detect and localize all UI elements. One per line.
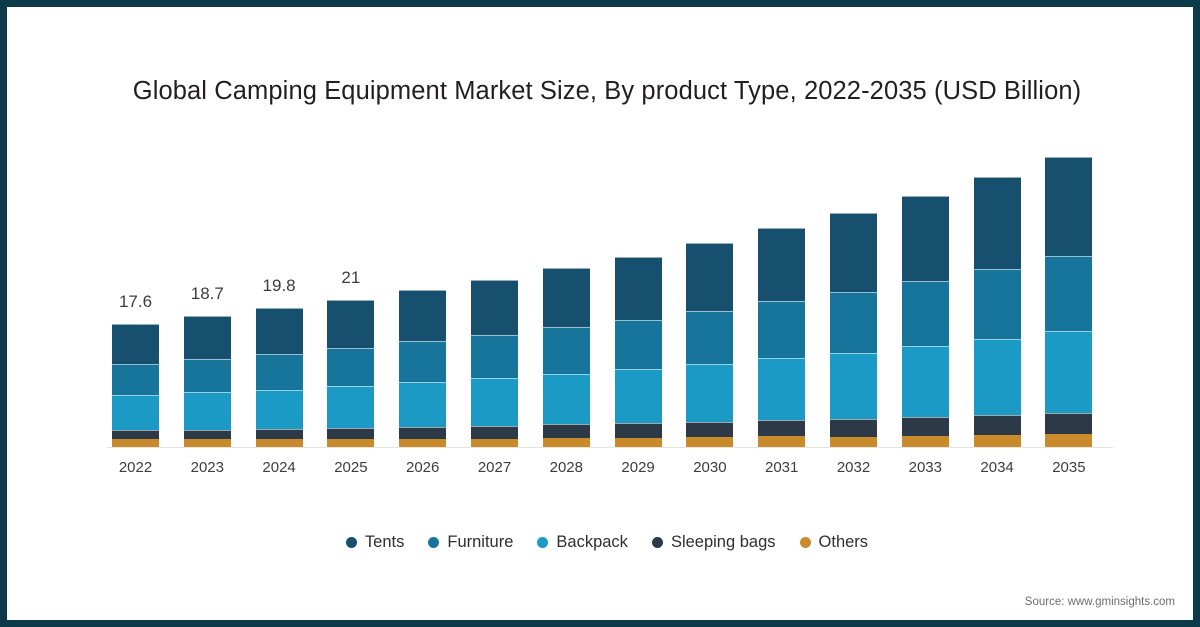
x-axis-label-2023: 2023: [184, 459, 231, 476]
bar-2030[interactable]: [686, 243, 733, 447]
bar-segment-others-2032[interactable]: [830, 437, 877, 448]
bar-2023[interactable]: [184, 316, 231, 447]
bar-segment-backpack-2027[interactable]: [471, 378, 518, 426]
bar-segment-sleeping-bags-2033[interactable]: [902, 417, 949, 436]
bar-segment-others-2022[interactable]: [112, 439, 159, 447]
bar-segment-others-2027[interactable]: [471, 439, 518, 447]
bar-segment-furniture-2024[interactable]: [256, 354, 303, 390]
bar-segment-tents-2031[interactable]: [758, 228, 805, 302]
bar-segment-backpack-2030[interactable]: [686, 364, 733, 422]
bar-segment-others-2033[interactable]: [902, 436, 949, 447]
bar-segment-furniture-2029[interactable]: [615, 320, 662, 369]
bar-segment-furniture-2035[interactable]: [1045, 256, 1092, 331]
bar-segment-furniture-2028[interactable]: [543, 327, 590, 373]
legend-marker-circle-icon: [800, 537, 811, 548]
legend-marker-circle-icon: [428, 537, 439, 548]
x-axis-label-2029: 2029: [615, 459, 662, 476]
bar-segment-backpack-2031[interactable]: [758, 358, 805, 420]
bar-segment-others-2024[interactable]: [256, 439, 303, 447]
bar-segment-sleeping-bags-2035[interactable]: [1045, 413, 1092, 435]
x-axis-label-2032: 2032: [830, 459, 877, 476]
bar-segment-backpack-2032[interactable]: [830, 353, 877, 420]
bar-2027[interactable]: [471, 280, 518, 447]
bar-2029[interactable]: [615, 257, 662, 447]
bar-segment-sleeping-bags-2025[interactable]: [327, 428, 374, 439]
bar-segment-tents-2027[interactable]: [471, 280, 518, 335]
source-attribution: Source: www.gminsights.com: [1025, 596, 1175, 608]
bar-segment-others-2034[interactable]: [974, 435, 1021, 447]
bar-segment-tents-2035[interactable]: [1045, 157, 1092, 256]
bar-segment-sleeping-bags-2026[interactable]: [399, 427, 446, 439]
legend-item-tents[interactable]: Tents: [346, 533, 404, 552]
bar-segment-furniture-2031[interactable]: [758, 301, 805, 358]
x-axis-label-2022: 2022: [112, 459, 159, 476]
legend-label: Sleeping bags: [671, 533, 776, 552]
data-label-2022: 17.6: [119, 292, 152, 312]
bar-segment-tents-2034[interactable]: [974, 177, 1021, 269]
bar-segment-furniture-2027[interactable]: [471, 335, 518, 378]
bar-segment-furniture-2030[interactable]: [686, 311, 733, 364]
legend-item-furniture[interactable]: Furniture: [428, 533, 513, 552]
legend-item-sleeping-bags[interactable]: Sleeping bags: [652, 533, 776, 552]
bar-segment-others-2031[interactable]: [758, 436, 805, 447]
bar-segment-backpack-2022[interactable]: [112, 395, 159, 430]
bar-segment-backpack-2024[interactable]: [256, 390, 303, 429]
bar-segment-sleeping-bags-2028[interactable]: [543, 424, 590, 438]
bar-segment-tents-2033[interactable]: [902, 196, 949, 281]
data-label-2023: 18.7: [191, 284, 224, 304]
bar-segment-sleeping-bags-2031[interactable]: [758, 420, 805, 437]
bar-segment-furniture-2026[interactable]: [399, 341, 446, 382]
bar-segment-backpack-2029[interactable]: [615, 369, 662, 423]
bar-segment-backpack-2028[interactable]: [543, 374, 590, 424]
chart-legend: TentsFurnitureBackpackSleeping bagsOther…: [7, 533, 1200, 552]
legend-marker-circle-icon: [537, 537, 548, 548]
bar-segment-others-2029[interactable]: [615, 438, 662, 447]
bar-2033[interactable]: [902, 196, 949, 447]
bar-segment-sleeping-bags-2022[interactable]: [112, 430, 159, 439]
bar-2034[interactable]: [974, 177, 1021, 447]
bar-2022[interactable]: [112, 324, 159, 447]
bar-segment-sleeping-bags-2023[interactable]: [184, 430, 231, 440]
chart-frame: Global Camping Equipment Market Size, By…: [0, 0, 1200, 627]
bar-segment-backpack-2033[interactable]: [902, 346, 949, 417]
bar-2025[interactable]: [327, 300, 374, 447]
x-axis-label-2033: 2033: [902, 459, 949, 476]
bar-segment-others-2023[interactable]: [184, 439, 231, 447]
bar-segment-tents-2026[interactable]: [399, 290, 446, 342]
bar-2028[interactable]: [543, 268, 590, 447]
legend-marker-circle-icon: [346, 537, 357, 548]
x-axis-label-2030: 2030: [686, 459, 733, 476]
data-label-2025: 21: [341, 268, 360, 288]
bar-segment-tents-2023[interactable]: [184, 316, 231, 359]
bar-segment-others-2030[interactable]: [686, 437, 733, 447]
bar-segment-furniture-2032[interactable]: [830, 292, 877, 353]
x-axis-label-2024: 2024: [256, 459, 303, 476]
bar-segment-furniture-2025[interactable]: [327, 348, 374, 386]
chart-title: Global Camping Equipment Market Size, By…: [7, 77, 1200, 106]
bar-segment-sleeping-bags-2024[interactable]: [256, 429, 303, 440]
x-axis-label-2026: 2026: [399, 459, 446, 476]
bar-segment-sleeping-bags-2032[interactable]: [830, 419, 877, 437]
legend-label: Backpack: [556, 533, 628, 552]
bar-segment-furniture-2022[interactable]: [112, 364, 159, 396]
bar-segment-backpack-2035[interactable]: [1045, 331, 1092, 413]
bar-2031[interactable]: [758, 228, 805, 447]
legend-label: Furniture: [447, 533, 513, 552]
bar-segment-sleeping-bags-2029[interactable]: [615, 423, 662, 438]
legend-label: Tents: [365, 533, 404, 552]
bar-segment-tents-2024[interactable]: [256, 308, 303, 354]
bar-segment-furniture-2033[interactable]: [902, 281, 949, 346]
x-axis-label-2034: 2034: [974, 459, 1021, 476]
bar-segment-others-2025[interactable]: [327, 439, 374, 447]
bar-segment-tents-2030[interactable]: [686, 243, 733, 312]
bar-segment-backpack-2025[interactable]: [327, 386, 374, 428]
legend-marker-circle-icon: [652, 537, 663, 548]
bar-segment-sleeping-bags-2027[interactable]: [471, 426, 518, 439]
x-axis-label-2027: 2027: [471, 459, 518, 476]
bar-segment-backpack-2023[interactable]: [184, 392, 231, 429]
bar-segment-tents-2025[interactable]: [327, 300, 374, 348]
bar-segment-sleeping-bags-2030[interactable]: [686, 422, 733, 437]
bar-segment-tents-2029[interactable]: [615, 257, 662, 321]
bar-segment-others-2028[interactable]: [543, 438, 590, 447]
x-axis-label-2025: 2025: [327, 459, 374, 476]
bar-segment-furniture-2023[interactable]: [184, 359, 231, 393]
bar-segment-tents-2032[interactable]: [830, 213, 877, 292]
bar-segment-tents-2028[interactable]: [543, 268, 590, 328]
bar-segment-furniture-2034[interactable]: [974, 269, 1021, 339]
bar-segment-backpack-2034[interactable]: [974, 339, 1021, 415]
bar-2032[interactable]: [830, 213, 877, 448]
bar-2026[interactable]: [399, 290, 446, 448]
legend-item-backpack[interactable]: Backpack: [537, 533, 628, 552]
data-label-2024: 19.8: [263, 276, 296, 296]
x-axis-label-2035: 2035: [1045, 459, 1092, 476]
legend-item-others[interactable]: Others: [800, 533, 869, 552]
baseline-axis: [107, 447, 1113, 448]
bar-2024[interactable]: [256, 308, 303, 447]
bar-segment-others-2035[interactable]: [1045, 434, 1092, 447]
bar-segment-others-2026[interactable]: [399, 439, 446, 447]
bar-segment-sleeping-bags-2034[interactable]: [974, 415, 1021, 435]
bar-segment-backpack-2026[interactable]: [399, 382, 446, 427]
x-axis-label-2031: 2031: [758, 459, 805, 476]
legend-label: Others: [819, 533, 869, 552]
bar-2035[interactable]: [1045, 157, 1092, 447]
x-axis-label-2028: 2028: [543, 459, 590, 476]
bar-segment-tents-2022[interactable]: [112, 324, 159, 364]
